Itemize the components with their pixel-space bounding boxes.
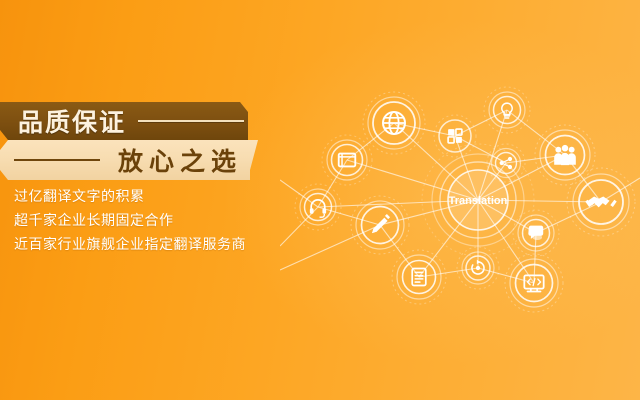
- ribbon-bar-bottom: 放心之选: [0, 140, 258, 180]
- network-node-monitor: [505, 254, 563, 312]
- network-node-chat: [513, 210, 559, 256]
- selling-points-list: 过亿翻译文字的积累 超千家企业长期固定合作 近百家行业旗舰企业指定翻译服务商: [14, 189, 246, 254]
- headset-icon: [310, 200, 326, 217]
- ribbon-rule-dark: [14, 159, 100, 161]
- globe-icon: [383, 112, 405, 134]
- ribbon-title-primary: 品质保证: [18, 103, 126, 139]
- list-item: 超千家企业长期固定合作: [14, 213, 246, 230]
- list-item: 近百家行业旗舰企业指定翻译服务商: [14, 237, 246, 254]
- network-center-label: Translation: [449, 195, 508, 207]
- translation-network-diagram: Translation: [280, 60, 640, 340]
- ribbon-bar-top: 品质保证: [0, 102, 248, 140]
- list-item: 过亿翻译文字的积累: [14, 189, 246, 206]
- promo-banner-screenshot: Translation: [0, 0, 640, 400]
- recycle-arrows-icon: [472, 260, 484, 274]
- quality-guarantee-ribbon: 品质保证 放心之选: [0, 102, 262, 180]
- people-group-icon: [554, 145, 576, 165]
- network-node-people: [535, 125, 595, 185]
- handshake-icon: [585, 196, 616, 207]
- network-node-globe: [363, 92, 425, 154]
- ribbon-title-secondary: 放心之选: [118, 142, 242, 178]
- ribbon-rule-light: [138, 120, 244, 122]
- speech-bubble-icon: [528, 226, 543, 240]
